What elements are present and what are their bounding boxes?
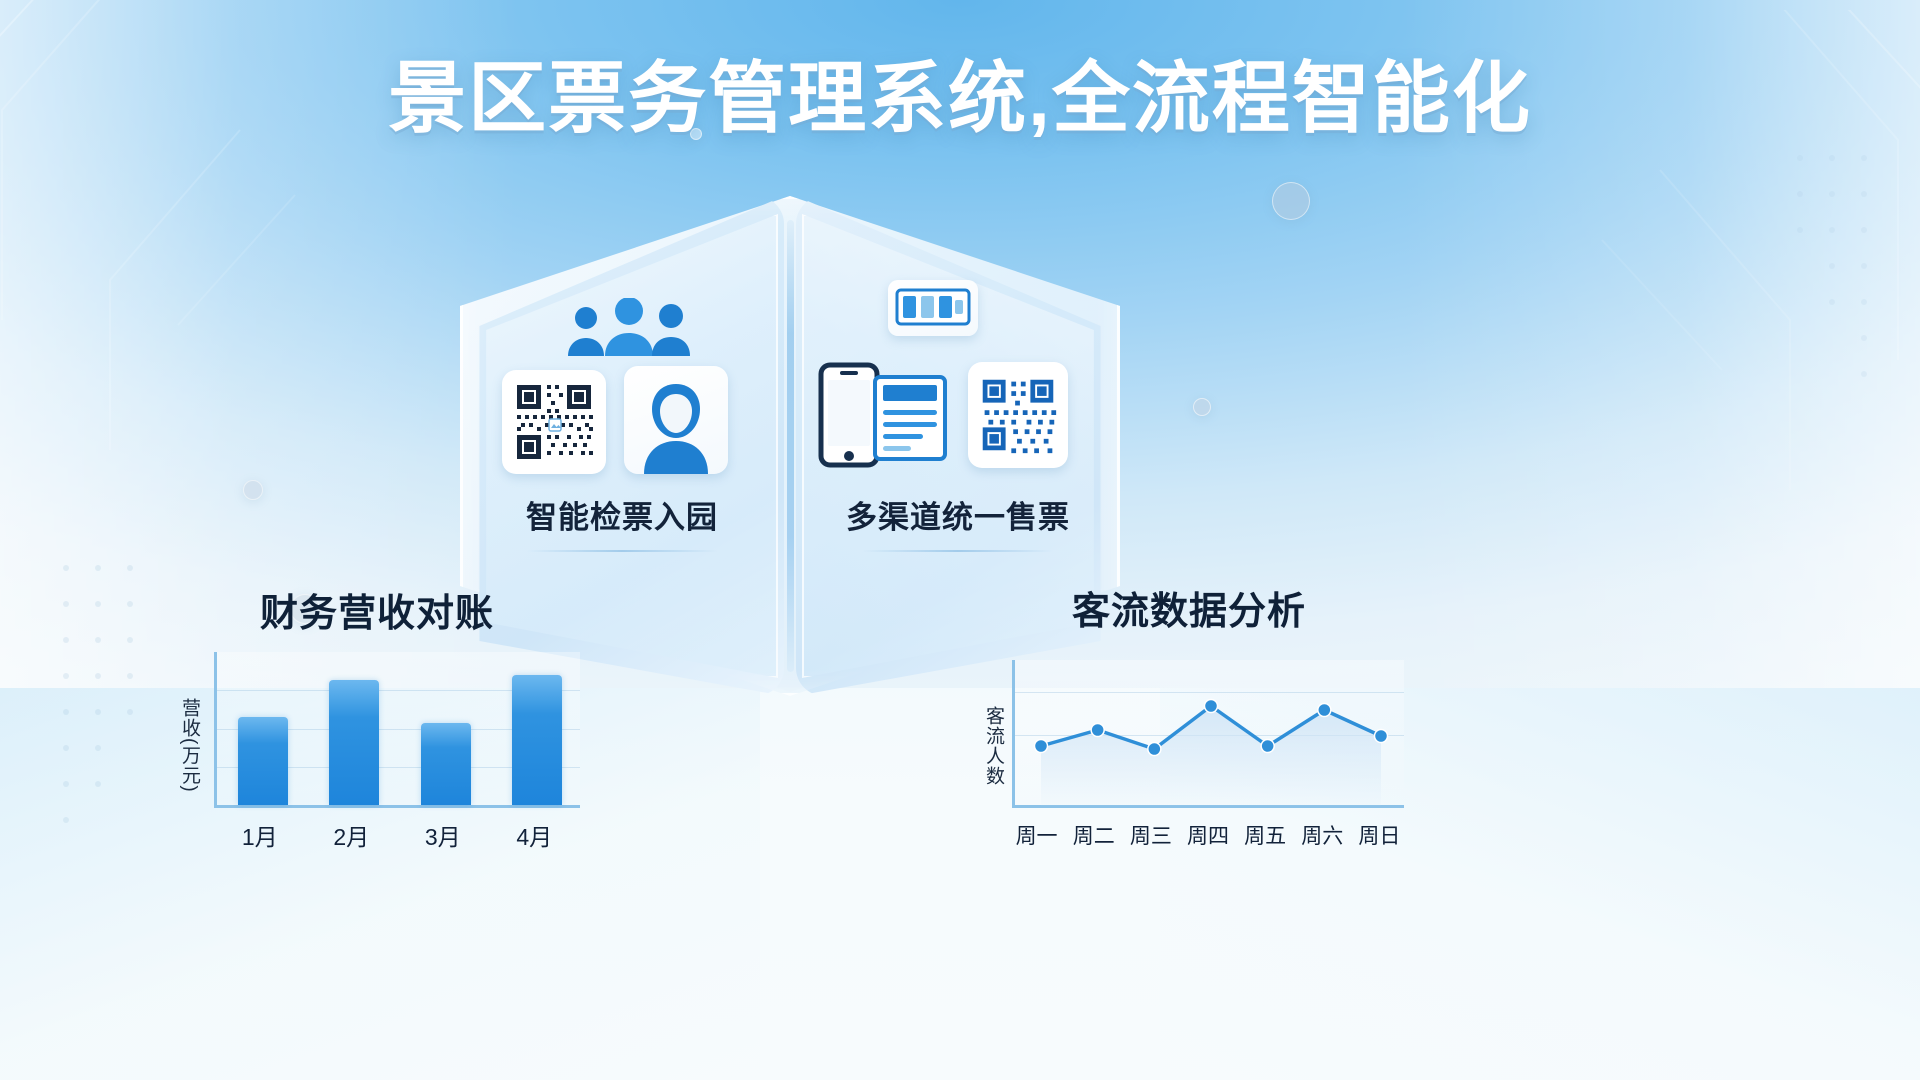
card-label-smart-gate: 智能检票入园 — [460, 492, 784, 537]
ticket-machine-icon — [888, 280, 978, 336]
feature-hexagon-group: 智能检票入园 — [460, 196, 1120, 696]
x-tick-label: 周二 — [1065, 820, 1122, 850]
bar-3月 — [421, 723, 471, 805]
x-tick-label: 周三 — [1122, 820, 1179, 850]
person-avatar-icon — [624, 366, 728, 474]
data-point-周日 — [1375, 730, 1388, 743]
icon-cluster-left — [460, 304, 784, 484]
document-icon — [872, 374, 948, 462]
bar-chart-title: 财务营收对账 — [260, 582, 494, 637]
x-tick-label: 3月 — [397, 818, 489, 852]
bar-4月 — [512, 675, 562, 805]
bar-chart-plot-area — [214, 652, 580, 808]
qr-code-icon — [968, 362, 1068, 468]
bar-2月 — [329, 680, 379, 805]
qr-code-icon — [502, 370, 606, 474]
hexagon-center-seam — [787, 220, 794, 672]
bar-chart-x-axis-ticks: 1月2月3月4月 — [214, 818, 580, 852]
line-chart-title: 客流数据分析 — [1072, 580, 1306, 635]
data-point-周四 — [1205, 700, 1218, 713]
feature-card-smart-gate[interactable]: 智能检票入园 — [460, 196, 784, 696]
line-chart-plot-area — [1012, 660, 1404, 808]
x-tick-label: 1月 — [214, 818, 306, 852]
data-point-周三 — [1148, 743, 1161, 756]
line-chart-x-axis-ticks: 周一周二周三周四周五周六周日 — [1008, 820, 1408, 850]
x-tick-label: 周日 — [1351, 820, 1408, 850]
page-title: 景区票务管理系统,全流程智能化 — [0, 52, 1920, 144]
decorative-bubble — [1193, 398, 1211, 416]
x-tick-label: 周五 — [1237, 820, 1294, 850]
card-label-multichannel: 多渠道统一售票 — [796, 492, 1120, 537]
decorative-bubble — [1272, 182, 1310, 220]
bar-chart-y-axis-label: 营收(万元) — [176, 698, 203, 848]
icon-cluster-right — [796, 304, 1120, 484]
data-point-周二 — [1091, 724, 1104, 737]
x-tick-label: 周六 — [1294, 820, 1351, 850]
card-divider — [527, 550, 717, 552]
x-tick-label: 4月 — [489, 818, 581, 852]
card-content-left: 智能检票入园 — [460, 196, 784, 696]
people-group-icon — [564, 298, 694, 360]
line-area-fill — [1041, 706, 1381, 806]
mobile-phone-icon — [818, 362, 880, 468]
data-point-周一 — [1035, 740, 1048, 753]
data-point-周五 — [1261, 740, 1274, 753]
x-tick-label: 周四 — [1179, 820, 1236, 850]
line-series — [1015, 660, 1407, 808]
line-chart-y-axis-label: 客流人数 — [980, 706, 1007, 816]
data-point-周六 — [1318, 704, 1331, 717]
poster-canvas: 景区票务管理系统,全流程智能化 — [0, 0, 1920, 1080]
x-tick-label: 周一 — [1008, 820, 1065, 850]
decorative-bubble — [243, 480, 263, 500]
card-divider — [863, 550, 1053, 552]
x-tick-label: 2月 — [306, 818, 398, 852]
bar-1月 — [238, 717, 288, 805]
